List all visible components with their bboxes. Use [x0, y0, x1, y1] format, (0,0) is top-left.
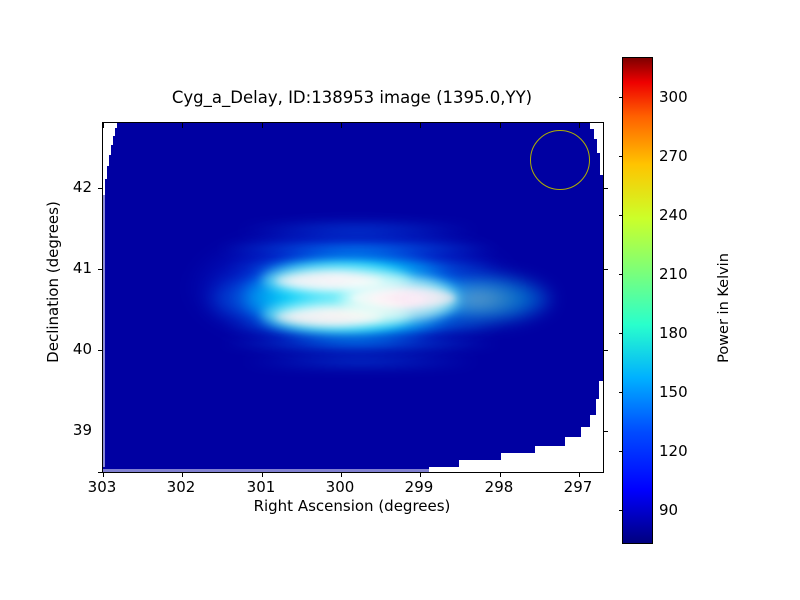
xtick-top — [262, 123, 263, 128]
colorbar-ticklabel-240: 240 — [659, 206, 688, 224]
sidelobe-stripe-6 — [238, 355, 483, 368]
ytick — [98, 472, 103, 473]
colorbar-ticklabel-300: 300 — [659, 88, 688, 106]
yticklabel-41: 41 — [62, 259, 92, 277]
masked-region-top-right — [600, 153, 603, 175]
ytick — [98, 188, 103, 189]
colorbar-tick — [619, 274, 623, 275]
lobe-south — [261, 298, 411, 332]
colorbar-tick — [619, 451, 623, 452]
xtick — [103, 472, 104, 477]
ytick-right — [603, 269, 608, 270]
page-title: Cyg_a_Delay, ID:138953 image (1395.0,YY) — [102, 88, 602, 107]
lobe-north-core — [275, 273, 383, 289]
masked-region-top-left — [103, 179, 105, 195]
xticklabel-302: 302 — [167, 478, 196, 496]
sidelobe-stripe-5 — [233, 223, 483, 236]
annotation-circle-marker[interactable] — [530, 130, 590, 190]
colorbar-tick — [619, 97, 623, 98]
masked-region-bottom-right — [581, 427, 603, 437]
xtick — [579, 472, 580, 477]
ytick-right — [603, 350, 608, 351]
yticklabel-40: 40 — [62, 340, 92, 358]
sidelobe-stripe-1 — [213, 241, 503, 256]
masked-region-bottom-right — [429, 467, 603, 472]
xticklabel-303: 303 — [88, 478, 117, 496]
colorbar-gradient — [623, 58, 652, 543]
lobe-north — [261, 263, 411, 297]
masked-region-bottom-right — [565, 437, 603, 446]
masked-region-bottom-right — [535, 446, 603, 453]
image-plot-area — [103, 123, 603, 472]
colorbar-ticklabel-210: 210 — [659, 265, 688, 283]
colorbar-ticklabel-120: 120 — [659, 442, 688, 460]
masked-region-bottom-right — [459, 460, 603, 467]
sidelobe-stripe-4 — [215, 337, 505, 351]
xticklabel-297: 297 — [564, 478, 593, 496]
source-peak — [351, 288, 455, 308]
xtick — [420, 472, 421, 477]
xtick-top — [103, 123, 104, 128]
figure-canvas: Cyg_a_Delay, ID:138953 image (1395.0,YY) — [0, 0, 800, 600]
xtick-top — [420, 123, 421, 128]
source-peak-hot — [371, 293, 427, 305]
radio-source-cygnus-a — [103, 123, 603, 472]
colorbar-tick — [619, 215, 623, 216]
masked-region-top-right — [597, 139, 603, 153]
xtick-top — [182, 123, 183, 128]
masked-region-bottom-right — [501, 453, 603, 460]
xticklabel-298: 298 — [485, 478, 514, 496]
sidelobe-stripe-3 — [221, 319, 506, 334]
x-axis-label: Right Ascension (degrees) — [102, 497, 602, 515]
xtick — [341, 472, 342, 477]
xticklabel-301: 301 — [247, 478, 276, 496]
halo-outer — [188, 223, 518, 353]
masked-region-top-left — [103, 136, 113, 145]
xticklabel-300: 300 — [326, 478, 355, 496]
jet-extension-west — [208, 273, 338, 325]
ytick — [98, 350, 103, 351]
masked-region-top-left — [103, 166, 107, 179]
colorbar-ticklabel-180: 180 — [659, 324, 688, 342]
masked-region-bottom-right — [599, 381, 603, 399]
jet-extension-east — [403, 273, 553, 325]
masked-region-top-right — [594, 129, 603, 139]
masked-region-top-left — [103, 128, 115, 136]
ytick-right — [603, 431, 608, 432]
colorbar[interactable]: 300 270 240 210 180 150 120 90 — [622, 57, 653, 544]
masked-region-left-edge — [103, 195, 105, 467]
colorbar-axis-label: Power in Kelvin — [716, 198, 732, 418]
colorbar-tick — [619, 392, 623, 393]
source-core-bridge — [339, 275, 459, 323]
yticklabel-42: 42 — [62, 178, 92, 196]
xtick — [500, 472, 501, 477]
lobe-south-core — [275, 309, 383, 325]
colorbar-ticklabel-270: 270 — [659, 147, 688, 165]
xtick-top — [500, 123, 501, 128]
sidelobe-stripe-2 — [223, 259, 503, 274]
colorbar-ticklabel-90: 90 — [659, 501, 678, 519]
ytick-right — [603, 188, 608, 189]
xtick-top — [341, 123, 342, 128]
yticklabel-39: 39 — [62, 421, 92, 439]
masked-region-bottom-edge — [103, 469, 433, 472]
ytick — [98, 269, 103, 270]
y-axis-label: Declination (degrees) — [44, 172, 62, 392]
xtick — [182, 472, 183, 477]
masked-region-top-left — [103, 145, 111, 155]
colorbar-ticklabel-150: 150 — [659, 383, 688, 401]
masked-region-top-left — [103, 155, 109, 166]
colorbar-tick — [619, 156, 623, 157]
xtick — [262, 472, 263, 477]
xtick-top — [579, 123, 580, 128]
xticklabel-299: 299 — [405, 478, 434, 496]
colorbar-tick — [619, 510, 623, 511]
masked-region-bottom-right — [596, 399, 603, 415]
image-axes[interactable] — [102, 122, 604, 473]
masked-region-bottom-right — [590, 415, 603, 427]
source-envelope — [243, 251, 463, 343]
colorbar-tick — [619, 333, 623, 334]
